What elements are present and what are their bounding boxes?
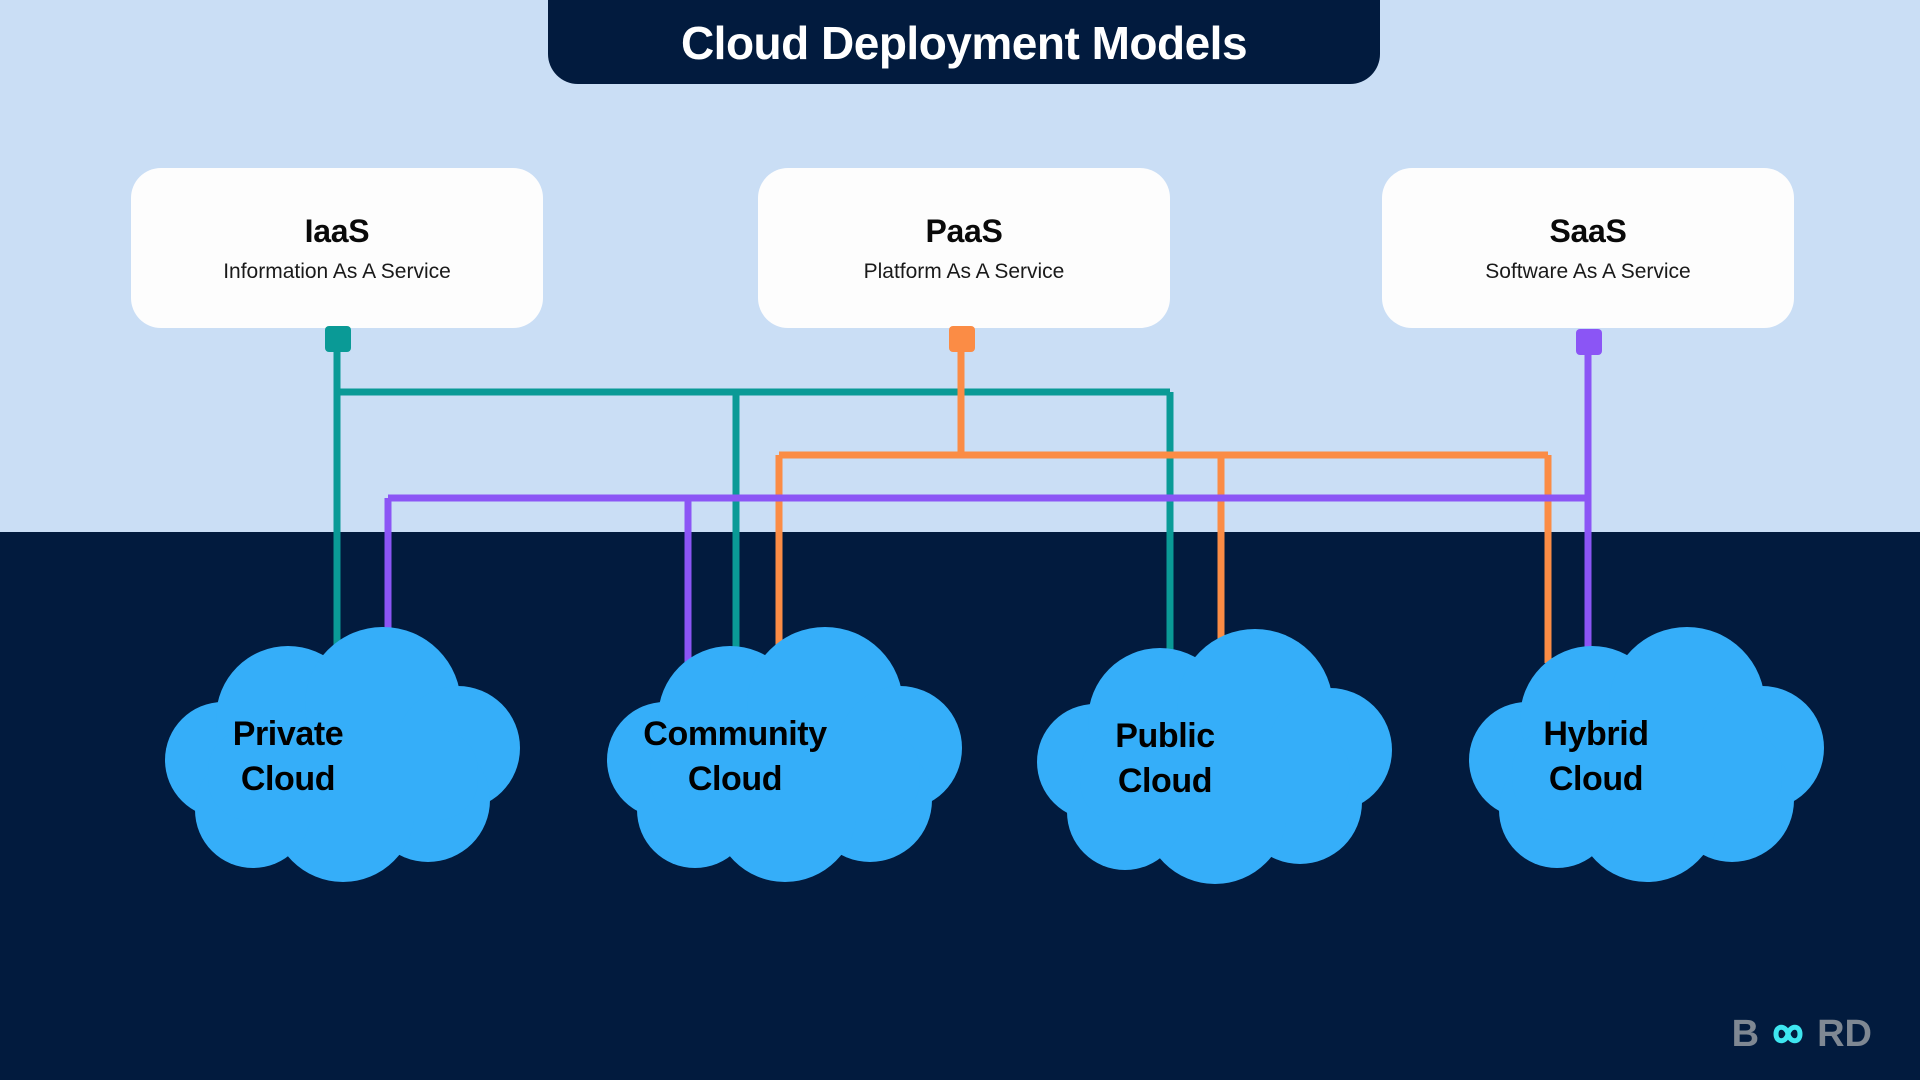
cloud-label-line1: Private [138,712,438,757]
service-card-paas[interactable]: PaaS Platform As A Service [758,168,1170,328]
cloud-label-line2: Cloud [138,757,438,802]
service-card-subtitle: Platform As A Service [864,260,1065,284]
title-banner: Cloud Deployment Models [548,0,1380,84]
cloud-label-line1: Hybrid [1446,712,1746,757]
page-title: Cloud Deployment Models [681,16,1247,70]
service-card-subtitle: Information As A Service [223,260,451,284]
infinity-mark-icon [1760,1016,1816,1052]
cloud-label-line1: Community [585,712,885,757]
service-card-subtitle: Software As A Service [1485,260,1690,284]
service-card-title: IaaS [305,213,370,250]
logo-suffix: RD [1817,1013,1872,1056]
diagram-canvas: Cloud Deployment Models IaaS Information… [0,0,1920,1080]
service-card-saas[interactable]: SaaS Software As A Service [1382,168,1794,328]
cloud-label-line2: Cloud [1446,757,1746,802]
service-card-title: PaaS [925,213,1002,250]
logo-prefix: B [1732,1013,1759,1056]
background-lower [0,532,1920,1080]
cloud-label-public: Public Cloud [1015,714,1315,804]
cloud-label-private: Private Cloud [138,712,438,802]
cloud-label-hybrid: Hybrid Cloud [1446,712,1746,802]
cloud-label-line2: Cloud [585,757,885,802]
board-logo[interactable]: B RD [1732,1012,1872,1056]
cloud-label-line2: Cloud [1015,759,1315,804]
cloud-label-line1: Public [1015,714,1315,759]
service-card-iaas[interactable]: IaaS Information As A Service [131,168,543,328]
cloud-label-community: Community Cloud [585,712,885,802]
service-card-title: SaaS [1549,213,1626,250]
